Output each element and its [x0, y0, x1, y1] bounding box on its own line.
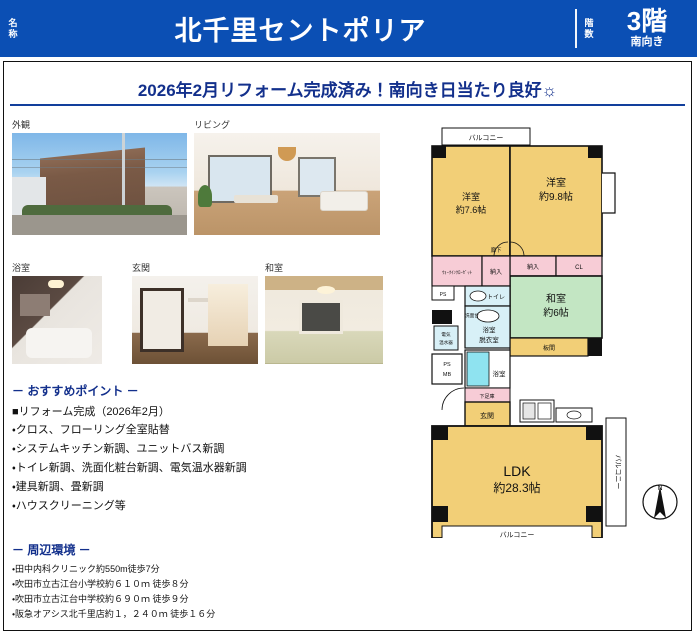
powerline-2	[12, 167, 187, 168]
plan-label-washroom-1: 浴室	[483, 325, 497, 334]
plan-label-cl: CL	[575, 265, 583, 271]
plan-label-ps-mb-2: MB	[443, 372, 452, 378]
photo-japanese-room-image	[265, 276, 383, 364]
photo-entrance	[132, 276, 258, 364]
property-title-wrap: 北千里セントポリア	[26, 0, 575, 57]
floor-plan: バルコニー 洋室 約7.6帖 洋室 約9.8帖	[410, 118, 685, 538]
photo-entrance-image	[132, 276, 258, 364]
shoji-window	[299, 300, 343, 334]
photo-cell-japanese-room: 和室	[265, 263, 383, 364]
entrance-door	[140, 288, 184, 352]
recommend-title: － おすすめポイント －	[12, 383, 402, 399]
floor-label: 階 数	[577, 0, 601, 57]
hallway	[208, 284, 248, 346]
catch-copy-text: 2026年2月リフォーム完成済み！南向き日当たり良好☼	[138, 76, 557, 101]
powerline-1	[12, 159, 187, 160]
bath-mirror	[20, 294, 50, 316]
photo-exterior	[12, 133, 187, 235]
plan-label-balcony-right: バルコニー	[614, 455, 622, 490]
name-label-ch1: 名	[8, 18, 17, 29]
photo-label-entrance: 玄関	[132, 263, 258, 274]
photo-cell-entrance: 玄関	[132, 263, 258, 364]
photo-label-living: リビング	[194, 120, 380, 131]
recommend-item: ・ハウスクリーニング等	[12, 497, 402, 516]
photo-exterior-image	[12, 133, 187, 235]
photo-label-japanese-room: 和室	[265, 263, 383, 274]
plan-label-balcony-bottom: バルコニー	[500, 531, 535, 538]
plan-label-walkin-closet: ｳｫｰｸｲﾝｸﾛｰｾﾞｯﾄ	[442, 269, 472, 275]
plan-label-oshiire: 納入	[527, 263, 539, 271]
floor-info: 3階 南向き	[601, 0, 697, 57]
entrance-shelf	[188, 298, 210, 302]
photo-bathroom	[12, 276, 102, 364]
plan-label-ldk-size: 約28.3帖	[493, 480, 540, 495]
plan-label-bath: 浴室	[493, 369, 507, 378]
neighbor-building	[12, 177, 46, 221]
recommend-item: ・トイレ新調、洗面化粧台新調、電気温水器新調	[12, 459, 402, 478]
environment-section: － 周辺環境 － ・田中内科クリニック約550m徒歩7分 ・吹田市立古江台小学校…	[12, 542, 402, 622]
sofa	[320, 191, 368, 211]
recommend-item: ・システムキッチン新調、ユニットバス新調	[12, 440, 402, 459]
environment-item: ・田中内科クリニック約550m徒歩7分	[12, 562, 402, 577]
environment-title: － 周辺環境 －	[12, 542, 402, 558]
catch-copy-band: 2026年2月リフォーム完成済み！南向き日当たり良好☼	[10, 72, 685, 106]
tatami-edge	[265, 363, 383, 364]
recommend-item: ・クロス、フローリング全室貼替	[12, 421, 402, 440]
photo-cell-exterior: 外観	[12, 120, 187, 235]
plan-label-room-west-size: 約7.6帖	[456, 204, 487, 215]
facing-value: 南向き	[631, 35, 664, 49]
compass-rose: N	[638, 478, 682, 524]
plan-label-ldk-name: LDK	[503, 463, 531, 479]
hedge	[22, 205, 172, 221]
floor-label-ch2: 数	[584, 29, 593, 40]
ceiling-light	[317, 286, 335, 294]
plan-label-rouka: 廊下	[491, 246, 502, 254]
plan-label-room-west-name: 洋室	[462, 191, 480, 202]
bath-light	[48, 280, 64, 288]
compass-north-label: N	[657, 485, 662, 492]
houseplant	[198, 185, 212, 207]
recommend-item: ■リフォーム完成（2026年2月）	[12, 403, 402, 421]
dining-table	[234, 195, 278, 203]
photo-living-image	[194, 133, 380, 235]
photo-cell-bathroom: 浴室	[12, 263, 102, 364]
pendant-lamp	[278, 147, 296, 161]
photo-cell-living: リビング	[194, 120, 380, 235]
environment-item: ・吹田市立古江台中学校約６９０ｍ 徒歩９分	[12, 592, 402, 607]
plan-label-balcony-top: バルコニー	[469, 134, 504, 142]
plan-label-room-east-size: 約9.8帖	[539, 190, 573, 203]
plan-label-boiler-1: 電気	[441, 331, 451, 338]
floor-label-ch1: 階	[584, 18, 593, 29]
header-bar: 名 称 北千里セントポリア 階 数 3階 南向き	[0, 0, 697, 57]
name-label-ch2: 称	[8, 29, 17, 40]
property-flyer: 名 称 北千里セントポリア 階 数 3階 南向き 2026年2月リフォーム完成済…	[0, 0, 697, 640]
bathtub	[26, 328, 92, 358]
header-divider	[575, 9, 577, 48]
plan-label-senmen: 洗面台	[465, 312, 479, 319]
plan-label-ps-mb-1: PS	[443, 362, 451, 368]
floor-value: 3階	[627, 8, 667, 35]
plan-label-nando: 納入	[490, 268, 502, 276]
plan-label-washitsu-size: 約6帖	[543, 306, 569, 319]
plan-label-boiler-2: 温水器	[439, 339, 453, 346]
plan-label-washitsu-name: 和室	[546, 293, 566, 305]
photo-living	[194, 133, 380, 235]
environment-item: ・吹田市立古江台小学校約６１０ｍ 徒歩８分	[12, 577, 402, 592]
photo-label-bathroom: 浴室	[12, 263, 102, 274]
plan-label-ps: PS	[440, 292, 447, 298]
photo-bathroom-image	[12, 276, 102, 364]
recommend-section: － おすすめポイント － ■リフォーム完成（2026年2月） ・クロス、フローリ…	[12, 383, 402, 516]
environment-item: ・阪急オアシス北千里店約１，２４０ｍ 徒歩１６分	[12, 607, 402, 622]
recommend-item: ・建具新調、畳新調	[12, 478, 402, 497]
name-label: 名 称	[0, 0, 26, 57]
photo-label-exterior: 外観	[12, 120, 187, 131]
plan-label-toilet: トイレ	[487, 295, 505, 301]
plan-label-room-east-name: 洋室	[546, 176, 566, 189]
plan-label-genkan: 玄関	[480, 411, 494, 420]
plan-label-itama: 板間	[543, 344, 555, 352]
plan-label-washroom-2: 脱衣室	[479, 335, 499, 344]
photo-japanese-room	[265, 276, 383, 364]
utility-pole	[122, 133, 125, 211]
plan-label-shoe-box: 下足庫	[479, 393, 494, 400]
property-title: 北千里セントポリア	[175, 9, 427, 48]
